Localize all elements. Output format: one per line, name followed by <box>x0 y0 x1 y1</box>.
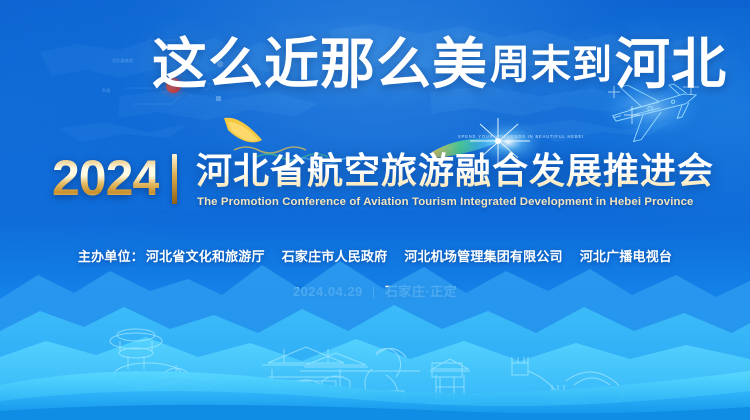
year-2024: 2024 <box>52 150 159 206</box>
slogan-part-4: 河北 <box>615 34 727 96</box>
slogan-block: 这么近那么美周末到河北 <box>0 34 750 134</box>
conference-poster: 河北省旅游 列表 <box>0 0 750 420</box>
slogan-part-2: 那么美 <box>320 34 488 96</box>
slogan-part-3: 周末到 <box>488 34 615 96</box>
slogan-text: 这么近那么美周末到河北 <box>152 34 727 96</box>
page-title: 河北省航空旅游融合发展推进会 <box>196 148 714 194</box>
slogan-part-1: 这么近 <box>152 34 320 96</box>
title-row: 2024 河北省航空旅游融合发展推进会 The Promotion Confer… <box>0 148 750 220</box>
landmark-scenery <box>0 245 750 420</box>
slogan-english-micro: SPEND YOUR WEEKENDS IN BEAUTIFUL HEBEI <box>458 134 550 140</box>
year-divider-bar <box>172 154 177 204</box>
page-subtitle: The Promotion Conference of Aviation Tou… <box>197 196 693 208</box>
